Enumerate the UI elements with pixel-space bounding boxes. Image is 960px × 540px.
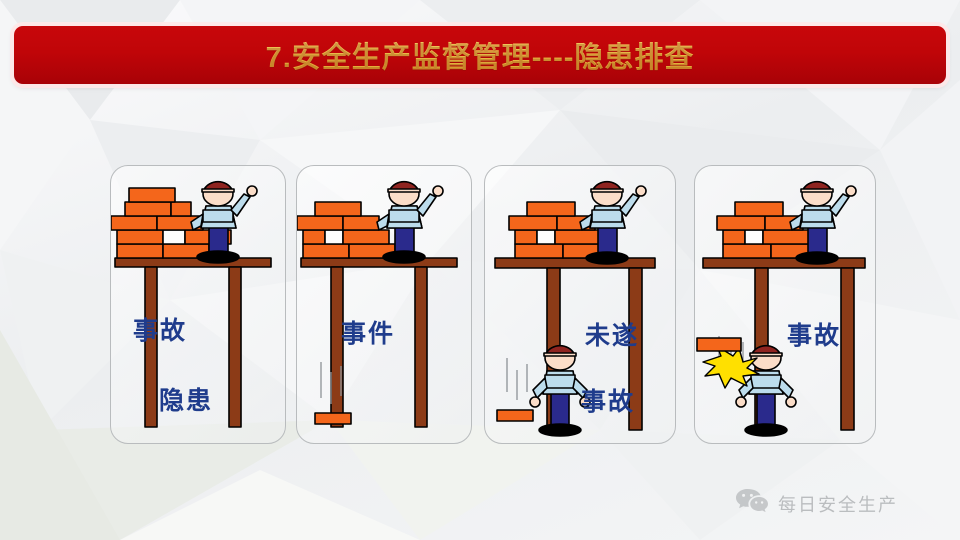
title-banner: 7.安全生产监督管理----隐患排查 xyxy=(14,26,946,84)
watermark: 每日安全生产 xyxy=(735,487,898,520)
panel-hazard[interactable]: 事故 隐患 xyxy=(110,165,286,444)
illustration-incident xyxy=(297,166,471,443)
illustration-near-miss xyxy=(485,166,675,443)
page-title: 7.安全生产监督管理----隐患排查 xyxy=(14,26,946,84)
panel-accident-caption-1: 事故 xyxy=(787,316,841,352)
wechat-icon xyxy=(735,487,769,520)
panel-accident[interactable]: 事故 xyxy=(694,165,876,444)
panel-near-miss-caption-2: 事故 xyxy=(581,382,635,418)
panel-incident-caption-1: 事件 xyxy=(341,314,395,350)
panel-hazard-caption-2: 隐患 xyxy=(159,381,213,417)
slide-root: 7.安全生产监督管理----隐患排查 xyxy=(0,0,960,540)
watermark-text: 每日安全生产 xyxy=(778,491,898,517)
panel-hazard-caption-1: 事故 xyxy=(133,311,187,347)
panel-near-miss[interactable]: 未遂 事故 xyxy=(484,165,676,444)
panel-incident[interactable]: 事件 xyxy=(296,165,472,444)
illustration-accident xyxy=(695,166,875,443)
panel-near-miss-caption-1: 未遂 xyxy=(585,316,639,352)
